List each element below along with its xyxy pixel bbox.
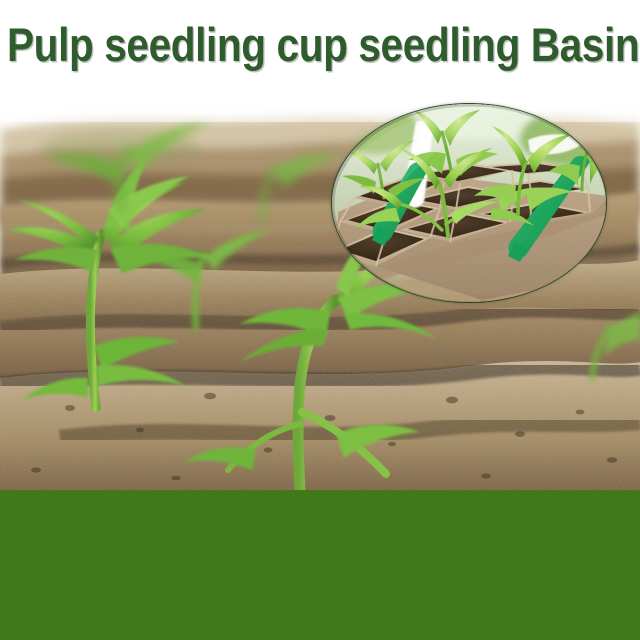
inset-oval-graphic <box>332 104 607 303</box>
title-band: Pulp seedling cup seedling Basin <box>0 0 640 86</box>
page-title: Pulp seedling cup seedling Basin <box>7 17 552 73</box>
product-listing-image: Pulp seedling cup seedling Basin The pot… <box>0 0 640 640</box>
inset-oval-photo <box>331 103 607 303</box>
description-banner <box>0 490 640 640</box>
